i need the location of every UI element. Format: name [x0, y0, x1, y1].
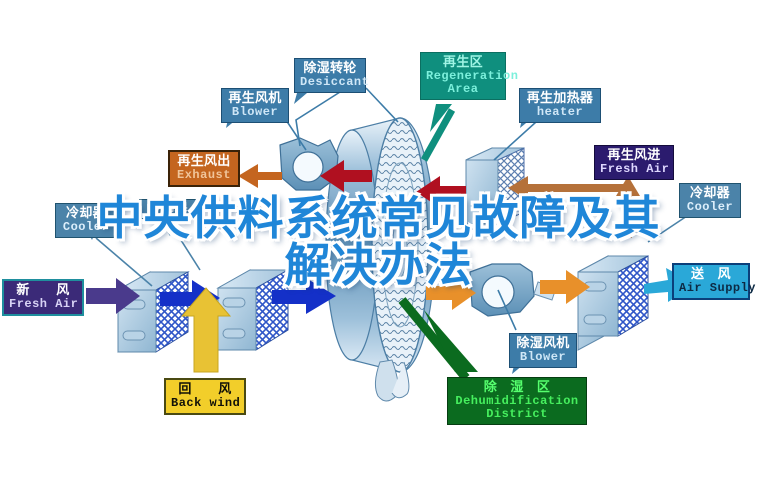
dehumidifier-schematic-artwork: [0, 0, 757, 488]
label-cooler-right-en: Cooler: [685, 201, 735, 214]
label-regeneration-fresh-air-in-cn: 再生风进: [600, 148, 668, 163]
label-regeneration-area: 再生区 Regeneration Area: [420, 52, 506, 100]
label-air-supply-cn: 送 风: [679, 267, 743, 282]
label-regeneration-area-en: Regeneration Area: [426, 70, 500, 97]
label-cooler-left-1: 冷却器 Cooler: [55, 203, 117, 238]
label-desiccant-wheel-en: Desiccant: [300, 76, 360, 89]
label-regeneration-blower-en: Blower: [227, 106, 283, 119]
label-fresh-air-in-cn: 新 风: [9, 283, 77, 298]
label-cooler-left-1-en: Cooler: [61, 221, 111, 234]
label-dehumidification-district: 除 湿 区 Dehumidification District: [447, 377, 587, 425]
label-regeneration-fresh-air-in-en: Fresh Air: [600, 163, 668, 176]
label-regeneration-blower-cn: 再生风机: [227, 91, 283, 106]
label-back-wind-cn: 回 风: [171, 382, 239, 397]
label-dehumidification-district-cn: 除 湿 区: [453, 380, 581, 395]
label-back-wind-en: Back wind: [171, 397, 239, 410]
label-fresh-air-in: 新 风 Fresh Air: [2, 279, 84, 316]
cooler-coil-2: [218, 270, 288, 350]
label-regeneration-fresh-air-in: 再生风进 Fresh Air: [594, 145, 674, 180]
label-desiccant-wheel-cn: 除湿转轮: [300, 61, 360, 76]
label-cooler-left-1-cn: 冷却器: [61, 206, 111, 221]
label-regeneration-heater: 再生加热器 heater: [519, 88, 601, 123]
label-exhaust-en: Exhaust: [175, 169, 233, 182]
label-regeneration-blower: 再生风机 Blower: [221, 88, 289, 123]
label-dehumidification-blower-en: Blower: [515, 351, 571, 364]
label-regeneration-heater-cn: 再生加热器: [525, 91, 595, 106]
label-regeneration-area-cn: 再生区: [426, 55, 500, 70]
label-exhaust: 再生风出 Exhaust: [168, 150, 240, 187]
label-dehumidification-blower: 除湿风机 Blower: [509, 333, 577, 368]
label-dehumidification-district-en: Dehumidification District: [453, 395, 581, 422]
diagram-canvas: 除湿转轮 Desiccant 再生风机 Blower 再生区 Regenerat…: [0, 0, 757, 488]
label-cooler-left-2-cn: 冷却器: [145, 202, 191, 217]
label-fresh-air-in-en: Fresh Air: [9, 298, 77, 311]
label-air-supply: 送 风 Air Supply: [672, 263, 750, 300]
desiccant-rotor-wheel: [326, 118, 435, 401]
label-cooler-right-cn: 冷却器: [685, 186, 735, 201]
cooler-coil-1: [118, 272, 188, 352]
label-desiccant-wheel: 除湿转轮 Desiccant: [294, 58, 366, 93]
label-air-supply-en: Air Supply: [679, 282, 743, 295]
regeneration-blower-unit: [280, 138, 338, 190]
label-exhaust-cn: 再生风出: [175, 154, 233, 169]
exhaust-arrow: [238, 164, 282, 188]
label-back-wind: 回 风 Back wind: [164, 378, 246, 415]
label-dehumidification-blower-cn: 除湿风机: [515, 336, 571, 351]
label-regeneration-heater-en: heater: [525, 106, 595, 119]
supply-filter-block: [578, 256, 648, 350]
label-cooler-left-2: 冷却器: [139, 199, 197, 219]
label-cooler-right: 冷却器 Cooler: [679, 183, 741, 218]
